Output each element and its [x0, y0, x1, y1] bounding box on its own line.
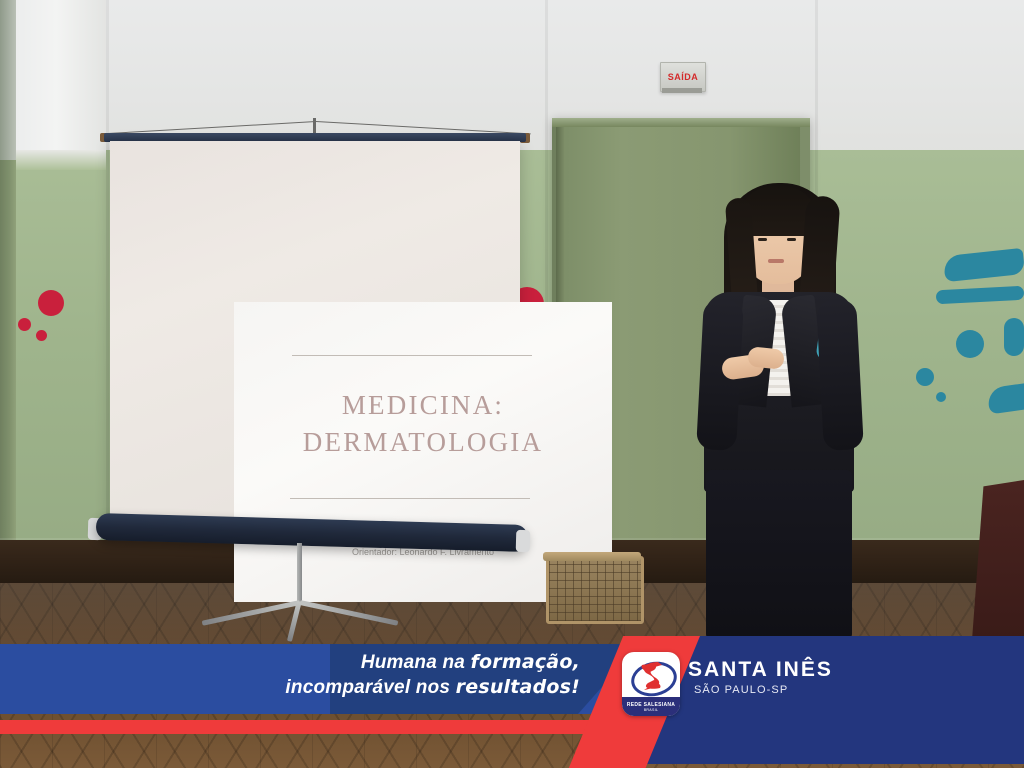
school-banner: Humana na formação, incomparável nos res…	[0, 636, 1024, 768]
school-city: SÃO PAULO-SP	[694, 684, 788, 696]
wall-decal-red-large	[38, 290, 64, 316]
presenter-mouth	[768, 259, 784, 263]
slide-rule-top	[292, 355, 532, 356]
banner-slogan-line1-accent: formação,	[471, 651, 580, 673]
presenter-eye-left	[758, 238, 767, 241]
banner-red-left-stripe	[0, 720, 600, 734]
banner-slogan-line1-plain: Humana na	[361, 652, 471, 673]
screenshot-root: SAÍDA MEDICINA: DERMATOLOGIA	[0, 0, 1024, 768]
slide-rule-bottom	[290, 498, 530, 499]
wicker-basket	[546, 556, 644, 624]
wall-decal-red-small	[18, 318, 31, 331]
tripod-pole	[297, 543, 302, 603]
wall-decal-teal-dot-small	[936, 392, 946, 402]
screen-cloth: MEDICINA: DERMATOLOGIA Aluna: Ellen J. N…	[110, 141, 520, 521]
banner-slogan-line2: incomparável nos resultados!	[210, 675, 580, 700]
presenter-arm-right	[816, 299, 864, 451]
presenter-eye-right	[787, 238, 796, 241]
banner-slogan: Humana na formação, incomparável nos res…	[210, 650, 580, 700]
slide-title-line1: MEDICINA:	[234, 390, 612, 421]
presenter-trousers	[706, 470, 852, 640]
banner-slogan-line2-plain: incomparável nos	[285, 677, 455, 698]
exit-sign-label: SAÍDA	[668, 72, 699, 82]
banner-slogan-line2-accent: resultados!	[456, 676, 580, 698]
door-header	[552, 118, 810, 127]
exit-sign-base	[662, 88, 702, 93]
rede-salesiana-logo: REDE SALESIANA BRASIL	[622, 652, 680, 716]
slide-title-line2: DERMATOLOGIA	[234, 427, 612, 458]
logo-text-line2: BRASIL	[644, 708, 659, 712]
logo-bolt-icon	[622, 652, 680, 700]
wall-decal-red-tiny	[36, 330, 47, 341]
wall-column-white	[16, 0, 106, 158]
wall-pilaster-left-top	[0, 0, 16, 160]
school-name: SANTA INÊS	[688, 658, 833, 682]
screen-roller-cap-right	[516, 530, 531, 552]
wall-decal-teal-dot-large	[956, 330, 984, 358]
wall-decal-teal-stroke-4	[1004, 318, 1024, 356]
wicker-basket-rim	[543, 552, 641, 561]
banner-slogan-line1: Humana na formação,	[210, 650, 580, 675]
wall-decal-teal-dot-medium	[916, 368, 934, 386]
wall-column-white-base	[16, 150, 106, 170]
logo-band: REDE SALESIANA BRASIL	[622, 697, 680, 716]
